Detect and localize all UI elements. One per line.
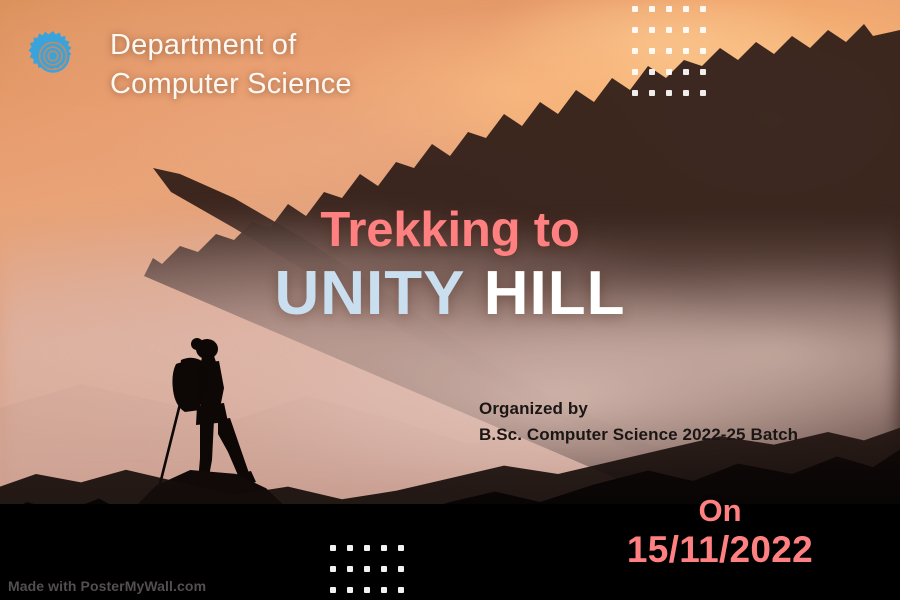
dot-grid-top-right-dot xyxy=(632,48,638,54)
dot-grid-top-right-dot xyxy=(683,69,689,75)
event-date: On 15/11/2022 xyxy=(555,494,885,571)
title-word-unity: UNITY xyxy=(275,259,466,328)
date-value: 15/11/2022 xyxy=(555,529,885,571)
title-top-line: Trekking to xyxy=(0,205,900,256)
dot-grid-top-right-dot xyxy=(666,27,672,33)
dot-grid-top-right-dot xyxy=(700,48,706,54)
dot-grid-top-right-dot xyxy=(666,90,672,96)
dot-grid-bottom-dot xyxy=(330,545,336,551)
department-heading: Department of Computer Science xyxy=(110,26,530,103)
dot-grid-top-right-dot xyxy=(700,69,706,75)
dot-grid-bottom-dot xyxy=(398,566,404,572)
dot-grid-bottom-dot xyxy=(398,587,404,593)
dot-grid-top-right-dot xyxy=(700,27,706,33)
dot-grid-top-right-dot xyxy=(649,27,655,33)
dot-grid-bottom-dot xyxy=(364,545,370,551)
dot-grid-top-right-dot xyxy=(632,6,638,12)
dot-grid-top-right-dot xyxy=(649,90,655,96)
postermywall-watermark: Made with PosterMyWall.com xyxy=(8,578,206,594)
dot-grid-bottom-dot xyxy=(398,545,404,551)
dot-grid-top-right-dot xyxy=(649,69,655,75)
page-title: Trekking to UNITY HILL xyxy=(0,205,900,327)
title-main-line: UNITY HILL xyxy=(0,261,900,326)
date-prefix: On xyxy=(555,494,885,529)
dot-grid-top-right-dot xyxy=(683,90,689,96)
dot-grid-top-right xyxy=(632,6,717,111)
dot-grid-top-right-dot xyxy=(649,48,655,54)
dot-grid-top-right-dot xyxy=(632,90,638,96)
dot-grid-top-right-dot xyxy=(683,6,689,12)
dot-grid-top-right-dot xyxy=(649,6,655,12)
dot-grid-top-right-dot xyxy=(632,69,638,75)
organizer-label: Organized by xyxy=(479,396,899,422)
dot-grid-bottom xyxy=(330,545,415,600)
title-word-hill: HILL xyxy=(484,259,626,328)
organizer-value: B.Sc. Computer Science 2022-25 Batch xyxy=(479,422,899,448)
department-logo-icon xyxy=(27,30,79,82)
department-line-2: Computer Science xyxy=(110,65,530,104)
dot-grid-bottom-dot xyxy=(347,545,353,551)
dot-grid-bottom-dot xyxy=(330,566,336,572)
dot-grid-top-right-dot xyxy=(666,6,672,12)
dot-grid-bottom-dot xyxy=(381,566,387,572)
department-line-1: Department of xyxy=(110,26,530,65)
dot-grid-top-right-dot xyxy=(683,27,689,33)
dot-grid-bottom-dot xyxy=(347,566,353,572)
dot-grid-bottom-dot xyxy=(347,587,353,593)
dot-grid-bottom-dot xyxy=(364,587,370,593)
dot-grid-top-right-dot xyxy=(683,48,689,54)
dot-grid-bottom-dot xyxy=(381,587,387,593)
dot-grid-top-right-dot xyxy=(700,90,706,96)
dot-grid-top-right-dot xyxy=(666,69,672,75)
organizer-info: Organized by B.Sc. Computer Science 2022… xyxy=(479,396,899,447)
dot-grid-bottom-dot xyxy=(330,587,336,593)
dot-grid-bottom-dot xyxy=(364,566,370,572)
dot-grid-top-right-dot xyxy=(632,27,638,33)
dot-grid-top-right-dot xyxy=(666,48,672,54)
event-poster: Department of Computer Science Trekking … xyxy=(0,0,900,600)
dot-grid-top-right-dot xyxy=(700,6,706,12)
dot-grid-bottom-dot xyxy=(381,545,387,551)
